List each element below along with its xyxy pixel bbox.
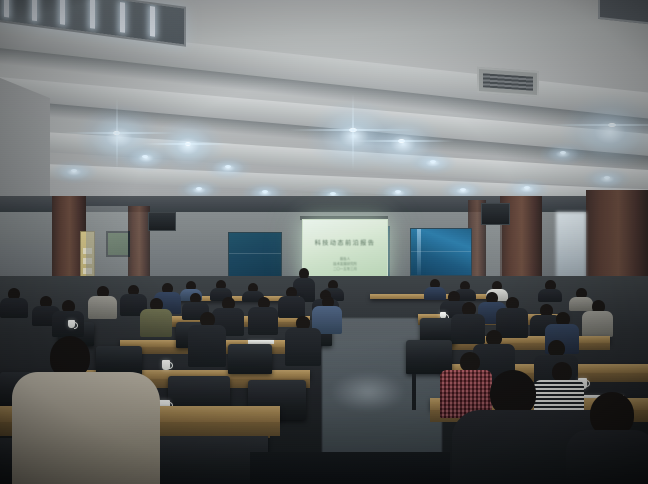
audience-person	[188, 325, 226, 367]
slide-subtitle: 报告人 技术发展研究所 二〇一五年三月	[333, 257, 357, 272]
conference-room-photo: 科技动态前沿报告 报告人 技术发展研究所 二〇一五年三月	[0, 0, 648, 484]
downlight-glow	[409, 151, 457, 175]
floor-reflection	[330, 372, 406, 412]
audience-person	[88, 296, 117, 319]
ceiling-air-vent	[477, 67, 539, 97]
audience-person	[424, 287, 446, 300]
mug	[68, 320, 75, 328]
wall-speaker-right	[481, 203, 510, 225]
light-streak	[352, 140, 454, 142]
audience-person	[569, 297, 593, 311]
audience-person	[278, 296, 305, 318]
audience-head	[460, 352, 480, 372]
audience-person	[582, 311, 613, 337]
foreground-shadow	[250, 452, 450, 484]
audience-head	[552, 362, 572, 382]
audience-person	[140, 309, 172, 337]
downlight-glow	[539, 142, 587, 166]
downlight-glow	[583, 167, 631, 191]
wall-speaker-left	[148, 212, 176, 231]
audience-person	[451, 314, 485, 344]
downlight-glow	[50, 160, 98, 184]
light-streak	[548, 124, 648, 126]
audience-person	[538, 289, 562, 302]
foreground-attendee	[12, 372, 160, 484]
downlight-glow	[204, 156, 252, 180]
downlight-glow	[120, 144, 172, 172]
chair-leg	[412, 374, 416, 410]
wall-board-left	[228, 232, 282, 277]
chair	[228, 344, 272, 374]
audience-person	[285, 328, 321, 366]
chair	[406, 340, 452, 374]
foreground-person-right-2	[566, 430, 648, 484]
slide-title: 科技动态前沿报告	[303, 238, 387, 247]
light-streak	[352, 94, 354, 170]
desk-front-c-right	[430, 343, 610, 350]
audience-person	[0, 298, 28, 318]
mug	[162, 360, 170, 370]
wall-board-right	[410, 228, 472, 276]
audience-person	[248, 307, 278, 335]
light-streak	[116, 98, 118, 170]
projection-screen[interactable]: 科技动态前沿报告 报告人 技术发展研究所 二〇一五年三月	[302, 219, 388, 282]
